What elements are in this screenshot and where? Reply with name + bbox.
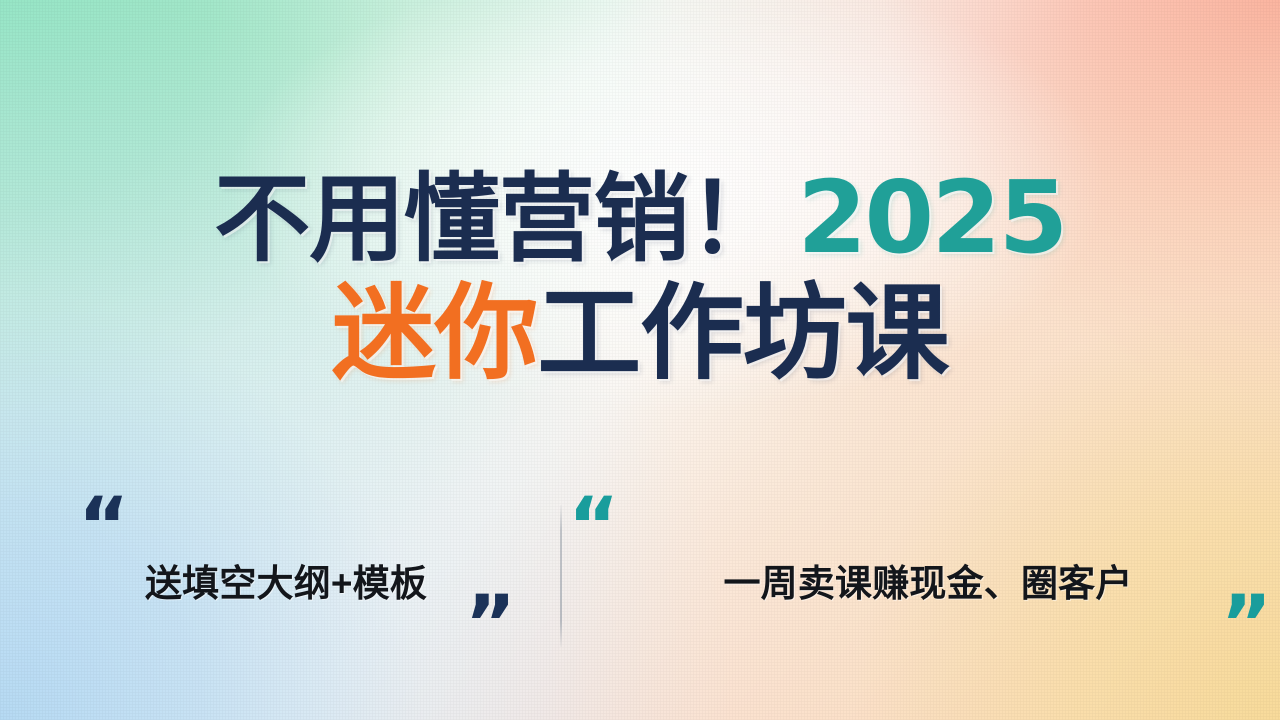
benefits-strip: “ 送填空大纲+模板 ” “ 一周卖课赚现金、圈客户 ” [0, 486, 1280, 666]
headline-main-phrase: 不用懂营销！ [214, 172, 783, 268]
headline-emphasis-mini: 迷你 [332, 282, 538, 386]
benefit-item-sell-course: “ 一周卖课赚现金、圈客户 ” [560, 486, 1280, 666]
quote-close-icon: ” [1221, 586, 1272, 664]
promo-banner: 不用懂营销！2025 迷你工作坊课 “ 送填空大纲+模板 ” “ 一周卖课赚现金… [0, 0, 1280, 720]
headline-line-1: 不用懂营销！2025 [0, 168, 1280, 268]
headline-workshop-course: 工作坊课 [537, 282, 948, 386]
headline-line-2: 迷你工作坊课 [0, 282, 1280, 386]
benefits-divider [560, 505, 562, 647]
quote-close-icon: ” [465, 586, 516, 664]
quote-open-icon: “ [78, 488, 129, 566]
headline-block: 不用懂营销！2025 迷你工作坊课 [0, 168, 1280, 386]
benefit-text-sell-course: 一周卖课赚现金、圈客户 [723, 553, 1132, 607]
benefit-text-templates: 送填空大纲+模板 [145, 553, 427, 607]
quote-open-icon: “ [568, 488, 619, 566]
headline-year: 2025 [797, 168, 1065, 268]
benefit-item-templates: “ 送填空大纲+模板 ” [0, 486, 560, 666]
